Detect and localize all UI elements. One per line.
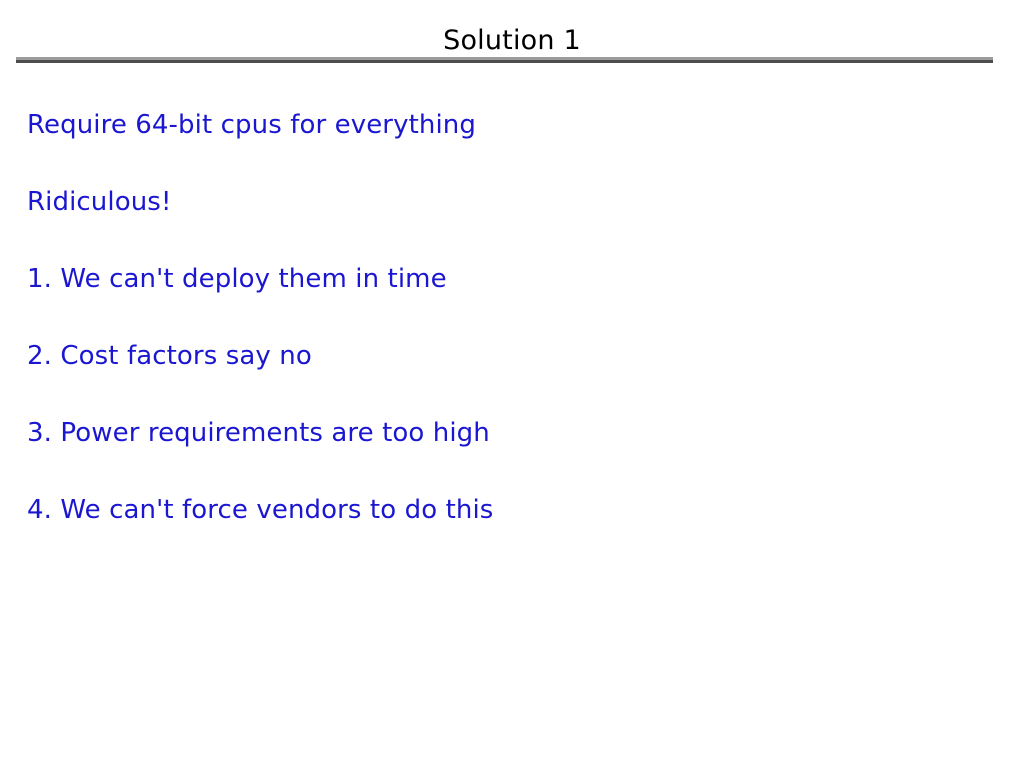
title-divider (16, 57, 993, 63)
body-line-reason-2: 2. Cost factors say no (27, 339, 987, 416)
body-line-reason-4: 4. We can't force vendors to do this (27, 493, 987, 527)
body-line-reaction: Ridiculous! (27, 185, 987, 262)
body-line-reason-3: 3. Power requirements are too high (27, 416, 987, 493)
body-line-statement: Require 64-bit cpus for everything (27, 108, 987, 185)
body-text-block: Require 64-bit cpus for everything Ridic… (27, 108, 987, 527)
body-line-reason-1: 1. We can't deploy them in time (27, 262, 987, 339)
slide-canvas: Solution 1 Require 64-bit cpus for every… (0, 0, 1024, 768)
divider-band-bottom (16, 60, 993, 63)
page-title: Solution 1 (0, 25, 1024, 57)
